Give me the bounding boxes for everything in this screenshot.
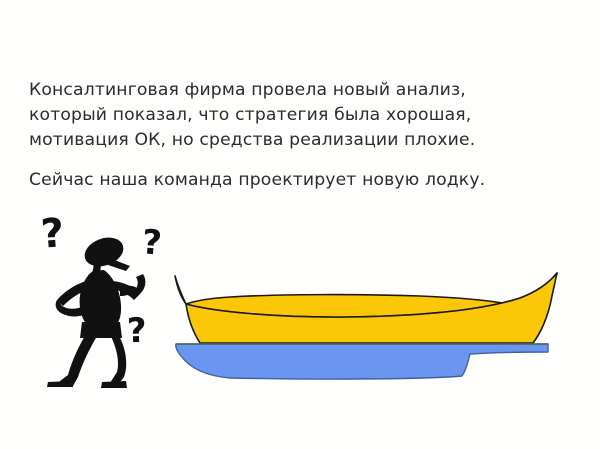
- illustration-artwork: [0, 0, 600, 449]
- thinking-stick-figure-icon: [47, 232, 145, 388]
- boat-lower-hull: [176, 344, 548, 379]
- cartoon-canvas: Консалтинговая фирма провела новый анали…: [0, 0, 600, 449]
